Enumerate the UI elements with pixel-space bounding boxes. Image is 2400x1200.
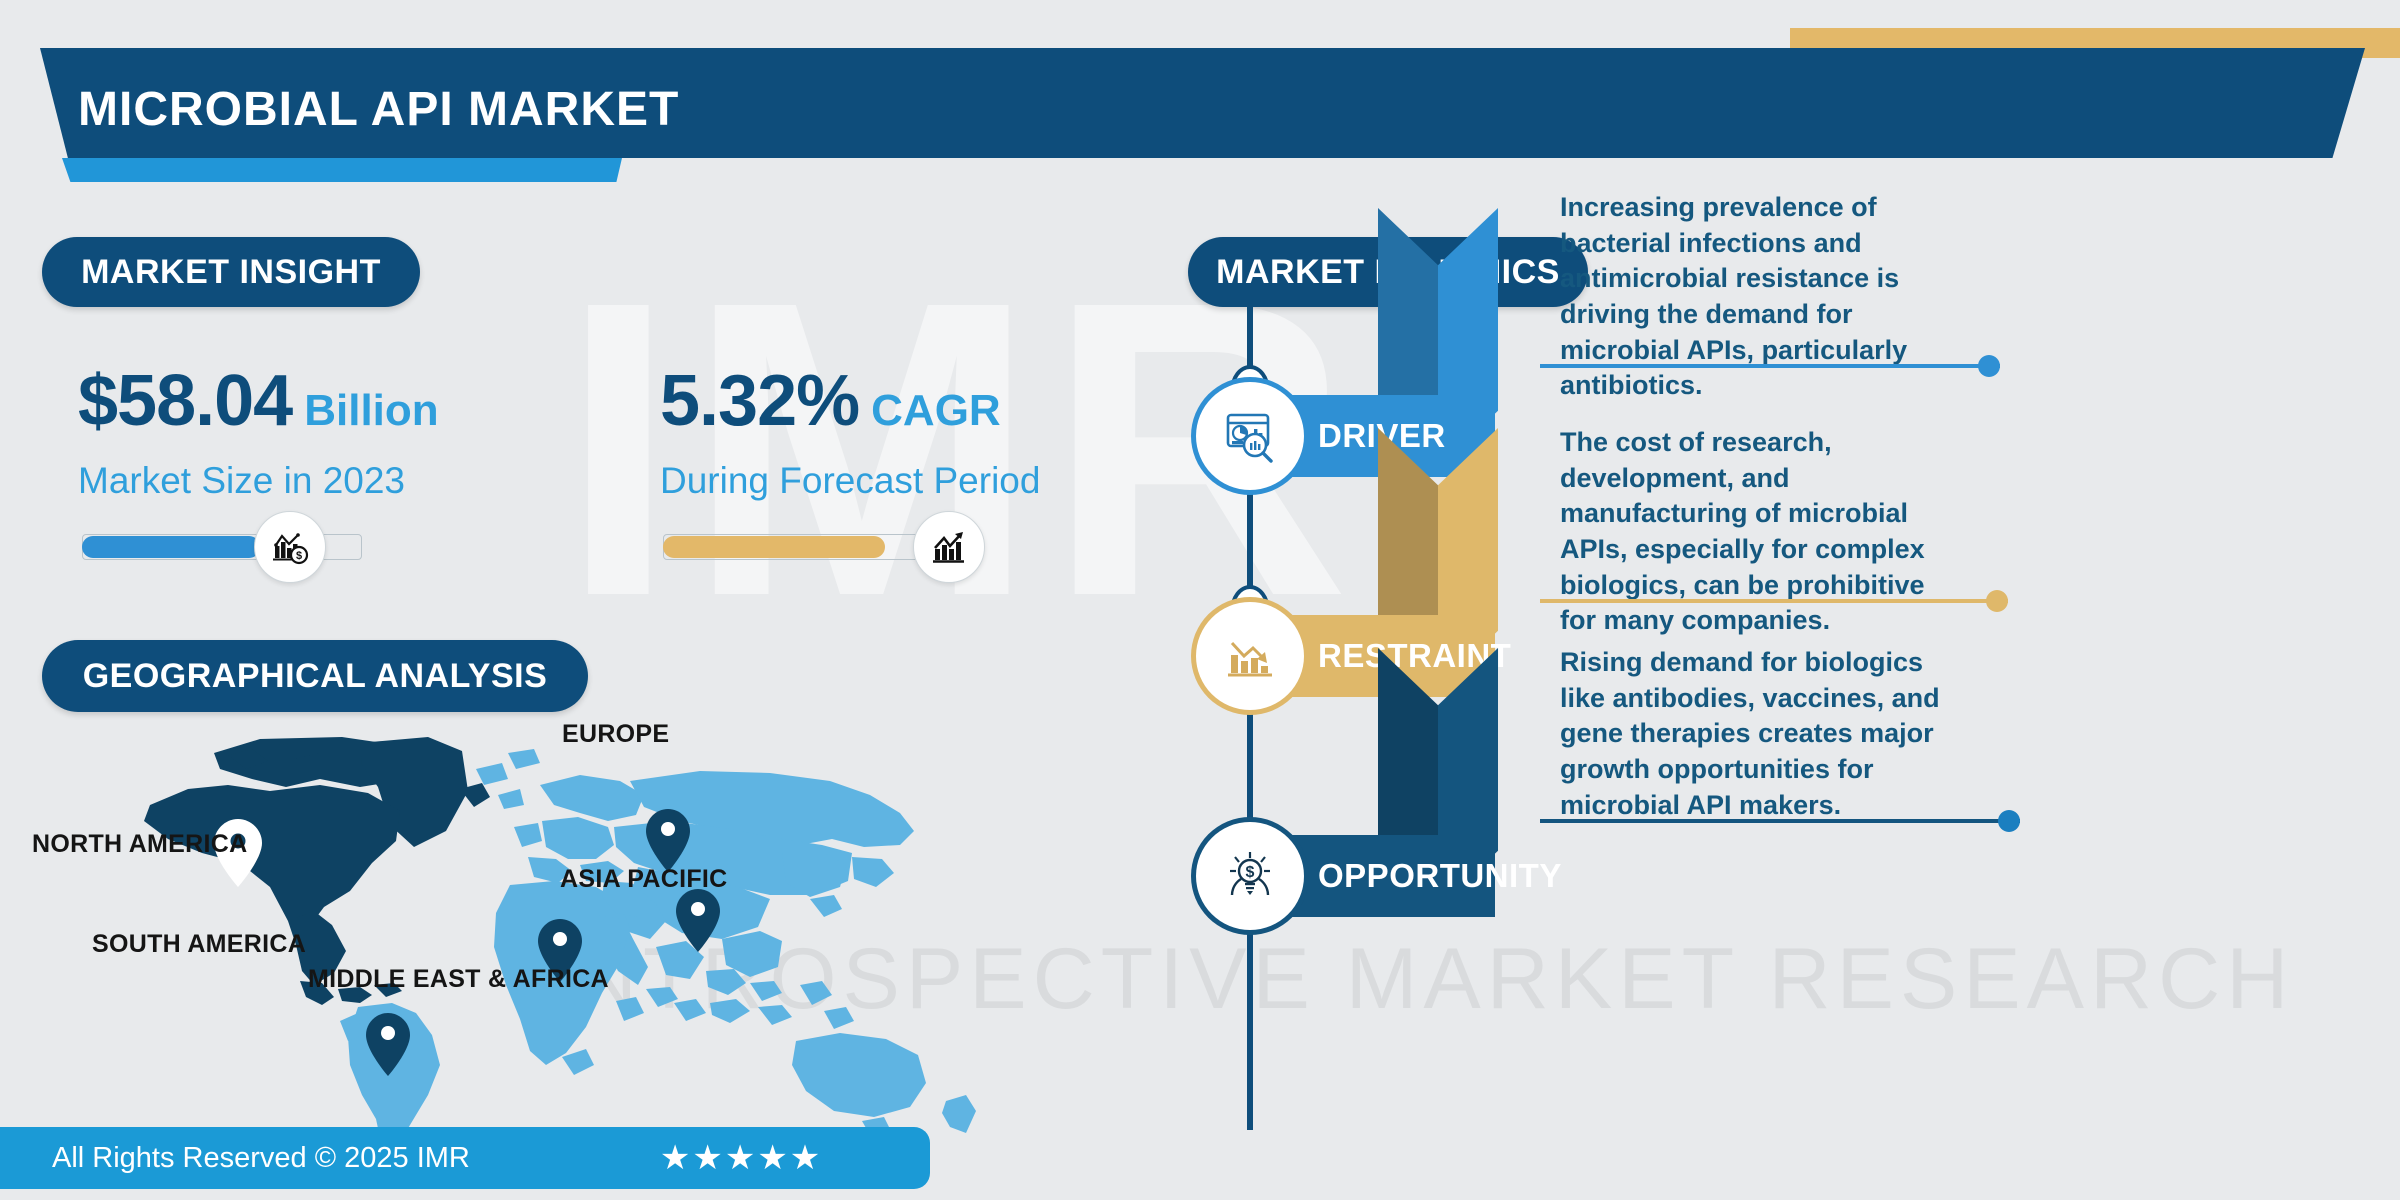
copyright-text: All Rights Reserved © 2025 IMR (52, 1142, 470, 1175)
market-insight-badge: MARKET INSIGHT (42, 237, 420, 307)
driver-dot (1978, 355, 2000, 377)
opportunity-underline (1540, 819, 2020, 823)
map-region-oceania (792, 1033, 976, 1135)
opportunity-bar: $ OPPORTUNITY (1240, 835, 1495, 917)
restraint-dot (1986, 590, 2008, 612)
restraint-bar: RESTRAINT (1240, 615, 1495, 697)
world-map: NORTH AMERICA SOUTH AMERICA MIDDLE EAST … (110, 735, 1170, 1155)
opportunity-text: Rising demand for biologics like antibod… (1560, 645, 1960, 823)
stat-market-size-caption: Market Size in 2023 (78, 460, 439, 502)
geo-label-asia-pacific: ASIA PACIFIC (560, 865, 728, 894)
market-dynamics-panel: DRIVER Increasing prevalence of bacteria… (1180, 300, 2400, 1200)
driver-underline (1540, 364, 2000, 368)
map-region-asia (602, 771, 914, 1029)
svg-text:$: $ (1246, 864, 1255, 881)
stat-cagr-value: 5.32% (660, 360, 859, 442)
analytics-magnifier-icon (1196, 382, 1304, 490)
cagr-progress (663, 525, 943, 571)
stat-market-size-value: $58.04 (78, 360, 292, 442)
stat-market-size: $58.04Billion Market Size in 2023 (78, 360, 439, 502)
stat-market-size-unit: Billion (304, 386, 438, 436)
stat-cagr-unit: CAGR (871, 386, 1001, 436)
restraint-text: The cost of research, development, and m… (1560, 425, 1960, 639)
stat-cagr: 5.32%CAGR During Forecast Period (660, 360, 1040, 502)
geo-label-south-america: SOUTH AMERICA (92, 930, 306, 959)
driver-text: Increasing prevalence of bacterial infec… (1560, 190, 1960, 404)
market-size-progress: $ (82, 525, 362, 571)
restraint-underline (1540, 599, 2008, 603)
geo-label-middle-east-africa: MIDDLE EAST & AFRICA (308, 965, 609, 994)
page-header: MICROBIAL API MARKET (0, 0, 2400, 200)
opportunity-label: OPPORTUNITY (1318, 857, 1562, 895)
dynamics-item-opportunity[interactable]: $ OPPORTUNITY Rising demand for biologic… (1180, 705, 2400, 935)
rating-stars: ★★★★★ (660, 1138, 822, 1178)
geo-label-north-america: NORTH AMERICA (32, 830, 247, 859)
progress-fill (82, 536, 260, 558)
stat-cagr-caption: During Forecast Period (660, 460, 1040, 502)
page-title: MICROBIAL API MARKET (78, 82, 679, 137)
map-region-europe (476, 749, 644, 883)
opportunity-dot (1998, 810, 2020, 832)
growth-arrow-chart-icon (913, 511, 985, 583)
declining-bar-chart-icon (1196, 602, 1304, 710)
page-footer: All Rights Reserved © 2025 IMR ★★★★★ (0, 1127, 930, 1189)
svg-text:$: $ (296, 550, 302, 562)
geo-label-europe: EUROPE (562, 720, 669, 749)
header-blue-accent (62, 158, 622, 182)
driver-bar: DRIVER (1240, 395, 1495, 477)
lightbulb-dollar-icon: $ (1196, 822, 1304, 930)
geographical-analysis-badge: GEOGRAPHICAL ANALYSIS (42, 640, 588, 712)
progress-fill (663, 536, 885, 558)
bar-chart-dollar-icon: $ (254, 511, 326, 583)
